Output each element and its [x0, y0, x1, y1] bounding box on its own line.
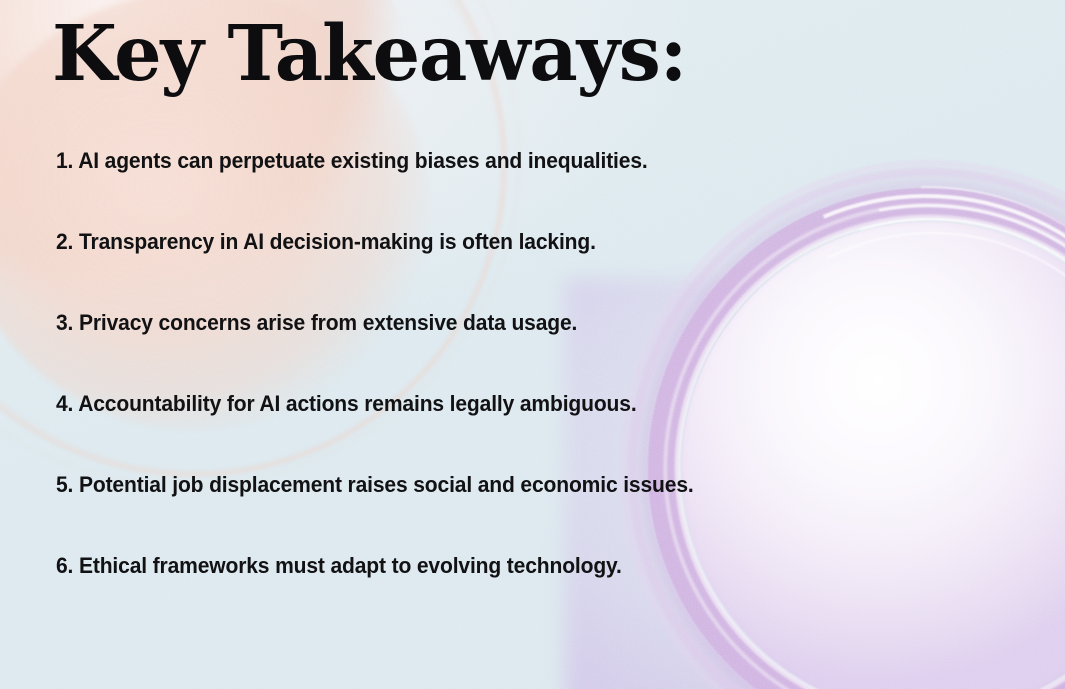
takeaway-list: 1. AI agents can perpetuate existing bia… [56, 146, 1045, 632]
list-item: 3. Privacy concerns arise from extensive… [56, 308, 981, 389]
slide-content: Key Takeaways: 1. AI agents can perpetua… [0, 0, 1065, 689]
list-item: 4. Accountability for AI actions remains… [56, 389, 981, 470]
list-item: 2. Transparency in AI decision-making is… [56, 227, 981, 308]
list-item: 5. Potential job displacement raises soc… [56, 470, 981, 551]
slide-canvas: Key Takeaways: 1. AI agents can perpetua… [0, 0, 1065, 689]
list-item: 6. Ethical frameworks must adapt to evol… [56, 551, 981, 632]
list-item: 1. AI agents can perpetuate existing bia… [56, 146, 981, 227]
page-title: Key Takeaways: [52, 14, 686, 95]
